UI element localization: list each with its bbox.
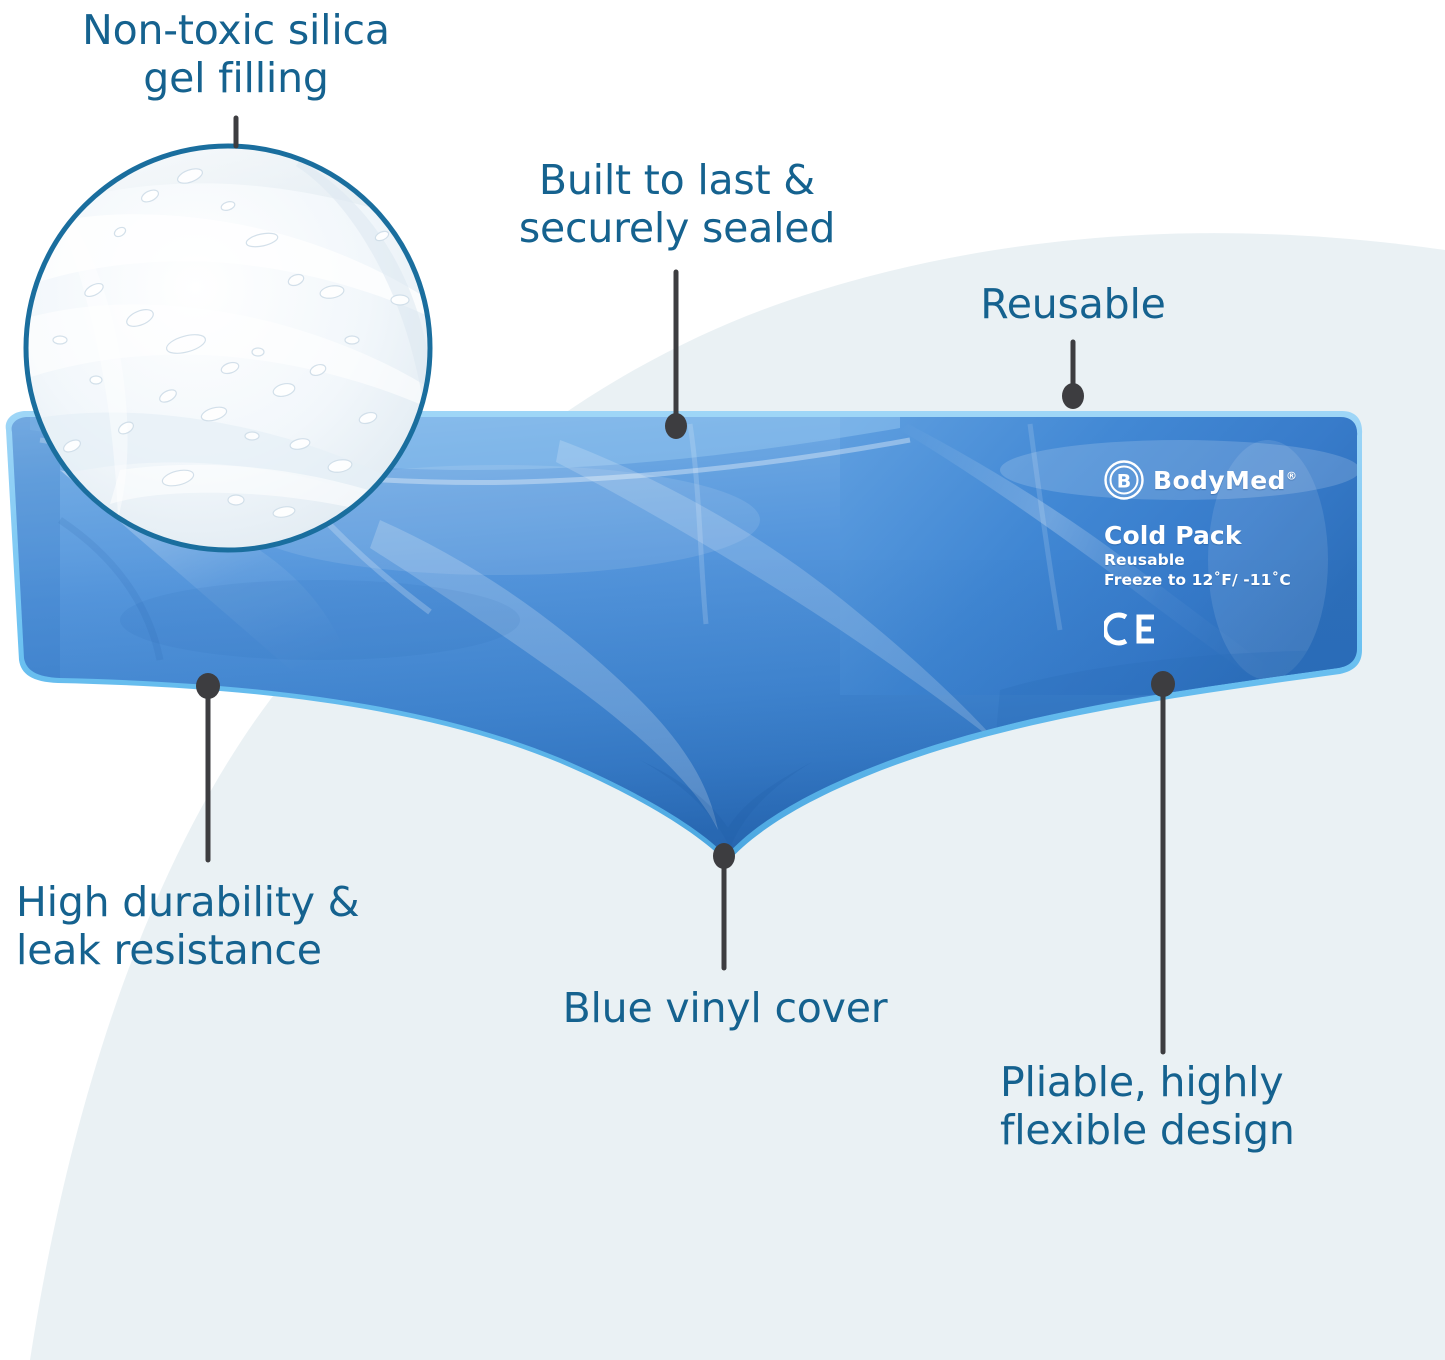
dot-reusable [1062,383,1084,409]
product-label: B BodyMed® Cold Pack Reusable Freeze to … [1104,458,1334,646]
callout-non-toxic-silica-gel-filling: Non-toxic silica gel filling [12,6,460,103]
dot-built-to-last [665,413,687,439]
product-title: Cold Pack [1104,521,1334,550]
infographic-canvas: B BodyMed® Cold Pack Reusable Freeze to … [0,0,1445,1360]
ce-mark-icon [1104,612,1164,646]
product-freeze-line: Freeze to 12˚F/ -11˚C [1104,570,1334,590]
svg-text:B: B [1117,471,1131,493]
brand-name-text: BodyMed [1153,466,1286,495]
dot-blue-vinyl [713,843,735,869]
product-reusable-line: Reusable [1104,550,1334,570]
callout-pliable-highly-flexible-design: Pliable, highly flexible design [1000,1058,1430,1155]
callout-reusable: Reusable [930,280,1216,328]
registered-trademark-symbol: ® [1286,469,1297,482]
dot-high-durability [196,673,220,699]
callout-high-durability-leak-resistance: High durability & leak resistance [16,878,456,975]
callout-built-to-last-securely-sealed: Built to last & securely sealed [462,156,892,253]
bodymed-logo-icon: B [1104,460,1144,500]
callout-blue-vinyl-cover: Blue vinyl cover [530,984,920,1032]
brand-lockup: B BodyMed® [1104,458,1334,502]
brand-name: BodyMed® [1153,466,1297,495]
dot-pliable [1151,671,1175,697]
